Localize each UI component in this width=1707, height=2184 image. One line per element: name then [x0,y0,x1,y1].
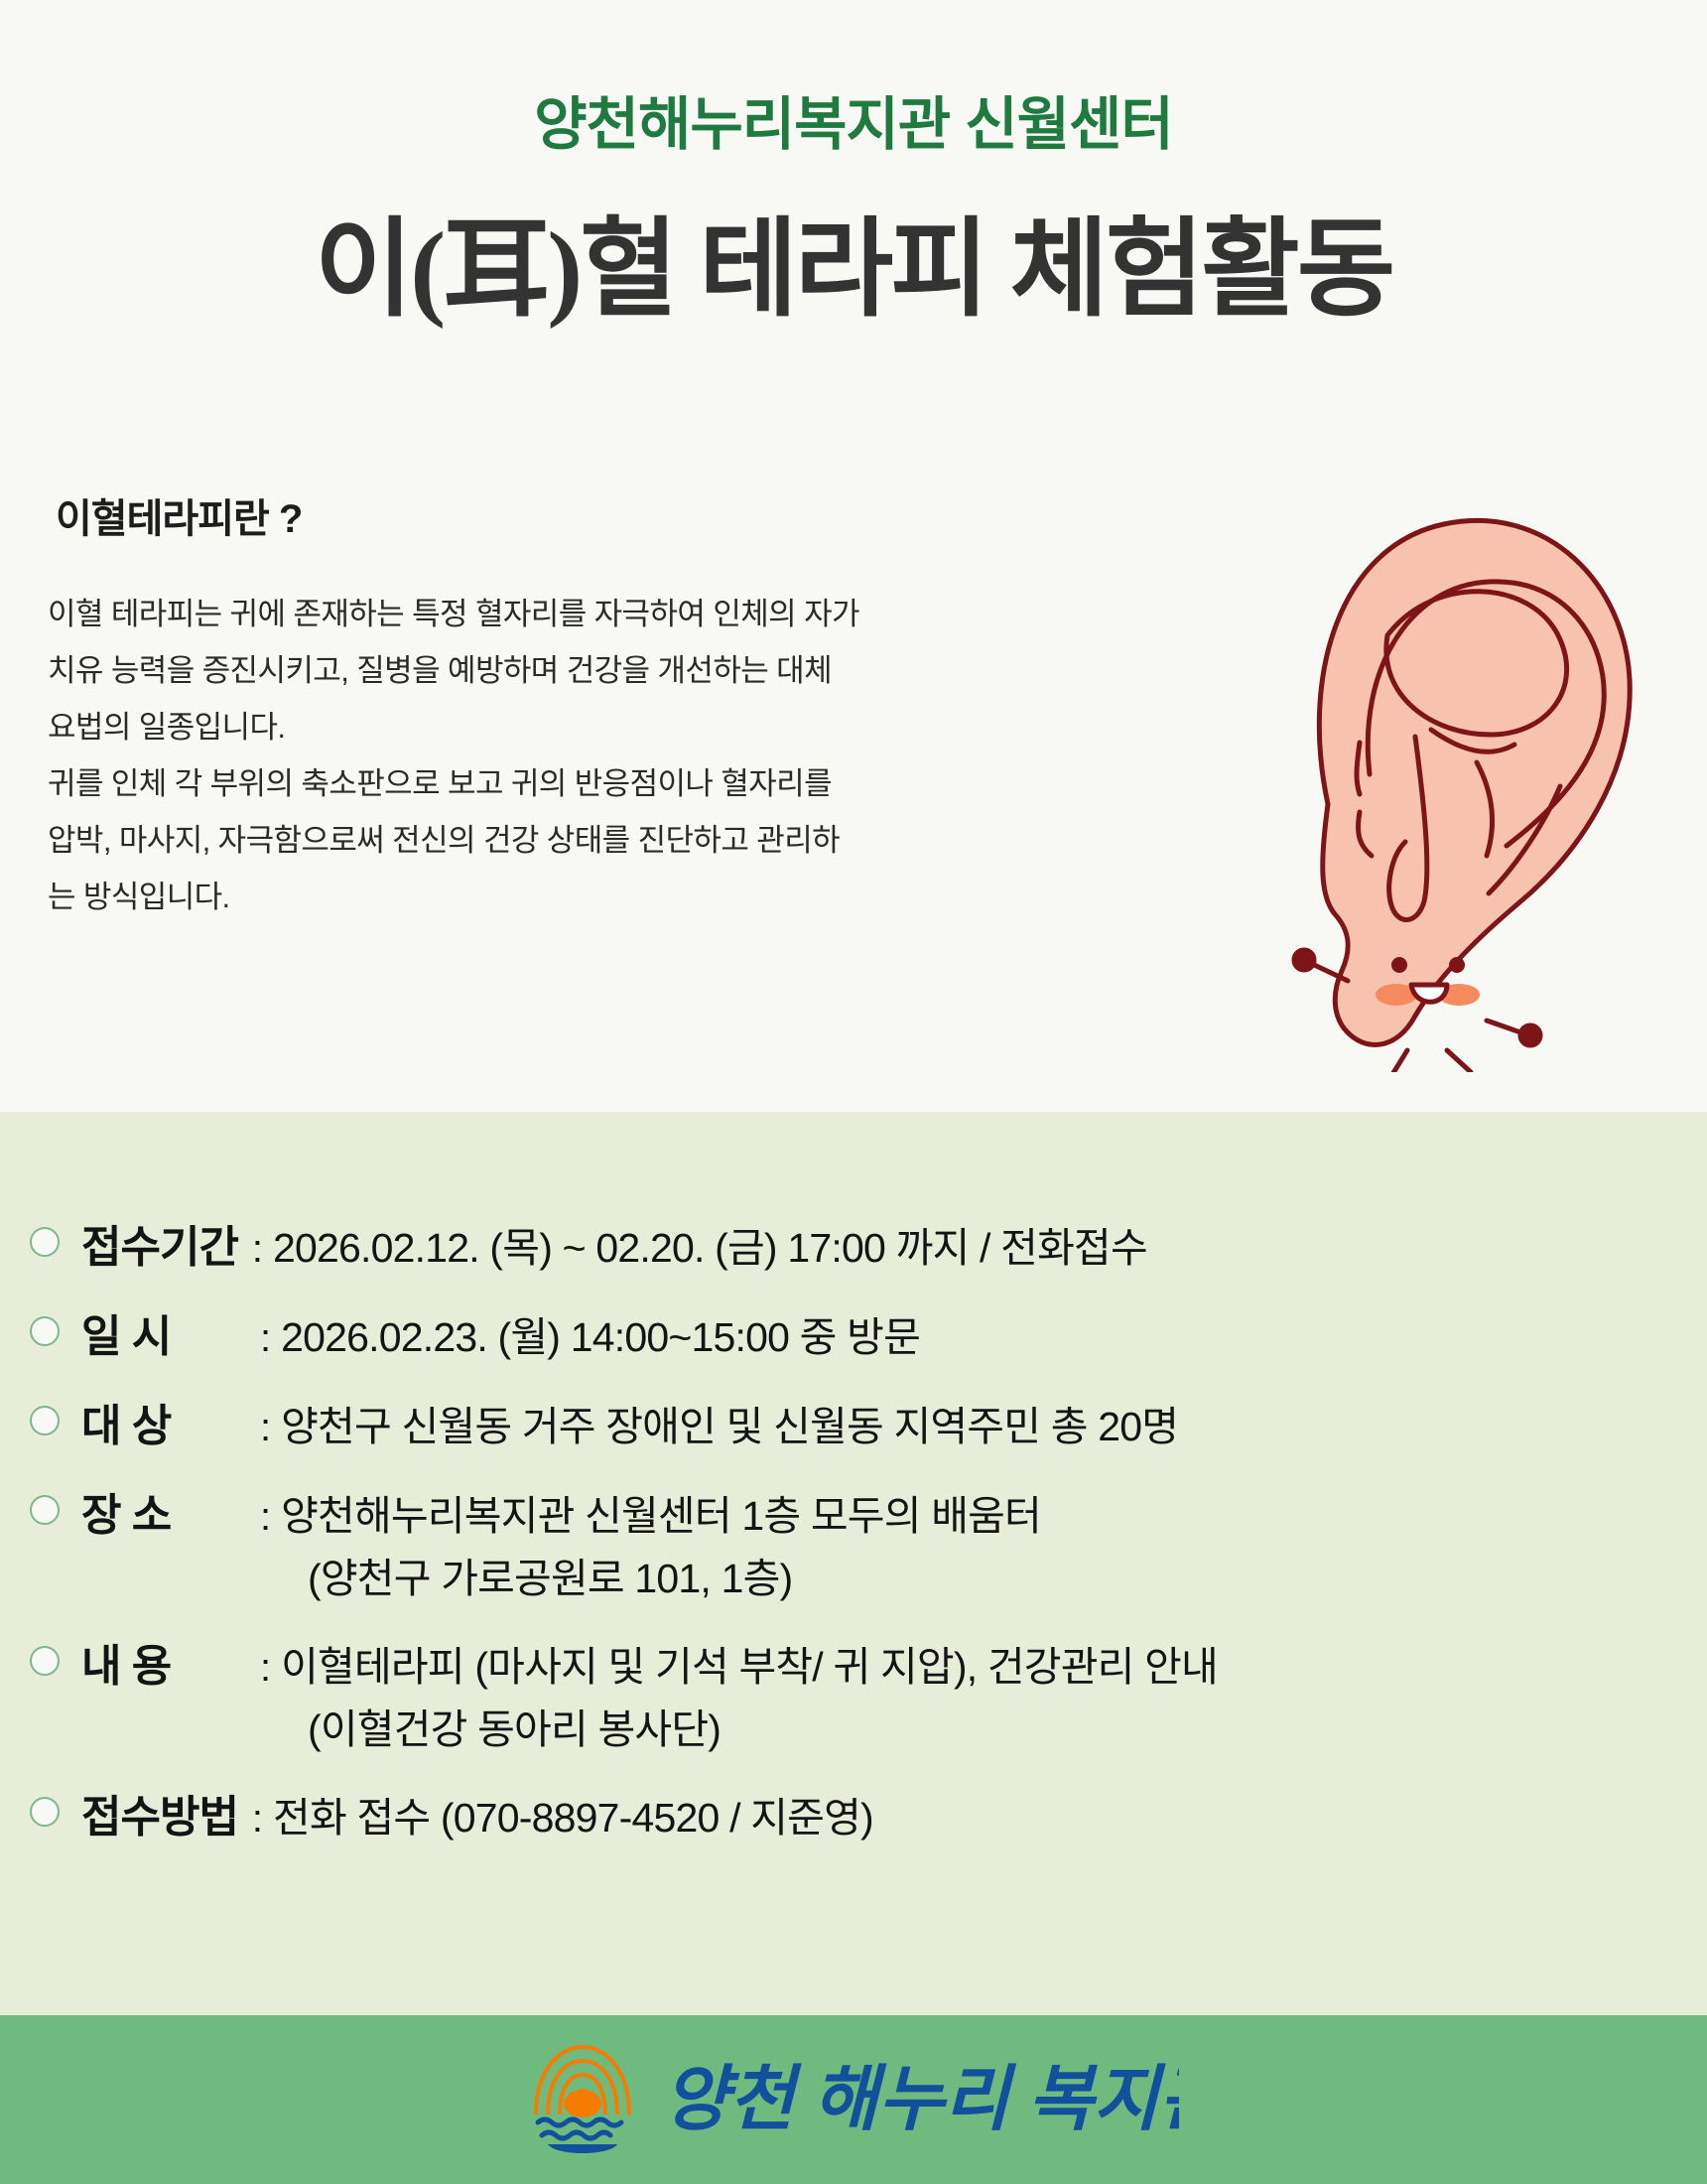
bullet-icon [30,1227,60,1257]
detail-row-datetime: 일 시 : 2026.02.23. (월) 14:00~15:00 중 방문 [30,1300,1677,1364]
intro-line: 치유 능력을 증진시키고, 질병을 예방하며 건강을 개선하는 대체 [48,642,921,699]
bullet-icon [30,1406,60,1435]
intro-line: 압박, 마사지, 자극함으로써 전신의 건강 상태를 진단하고 관리하 [48,812,921,869]
detail-row-line: 접수방법 : 전화 접수 (070-8897-4520 / 지준영) [81,1781,1677,1844]
detail-label: 대 상 [81,1390,252,1453]
footer-logo-text-icon: 양천 해누리 복지관 [663,2052,1179,2147]
detail-row-target: 대 상 : 양천구 신월동 거주 장애인 및 신월동 지역주민 총 20명 [30,1390,1677,1453]
detail-label: 접수방법 [81,1781,238,1844]
detail-value: 이혈테라피 (마사지 및 기석 부착/ 귀 지압), 건강관리 안내 [281,1633,1218,1693]
intro-line: 는 방식입니다. [48,869,921,925]
detail-row-location: 장 소 : 양천해누리복지관 신월센터 1층 모두의 배움터 (양천구 가로공원… [30,1479,1677,1604]
detail-value: 2026.02.12. (목) ~ 02.20. (금) 17:00 까지 / … [273,1214,1147,1274]
detail-row-body: 접수방법 : 전화 접수 (070-8897-4520 / 지준영) [81,1781,1677,1844]
bullet-icon [30,1797,60,1827]
intro-paragraph: 이혈 테라피는 귀에 존재하는 특정 혈자리를 자극하여 인체의 자가 치유 능… [48,586,921,925]
detail-row-line: 일 시 : 2026.02.23. (월) 14:00~15:00 중 방문 [81,1300,1677,1364]
detail-row-reception-period: 접수기간 : 2026.02.12. (목) ~ 02.20. (금) 17:0… [30,1211,1677,1275]
detail-row-how-to-apply: 접수방법 : 전화 접수 (070-8897-4520 / 지준영) [30,1781,1677,1844]
poster-root: 양천해누리복지관 신월센터 이(耳)혈 테라피 체험활동 이혈테라피란 ? 이혈… [0,0,1707,2184]
detail-label: 일 시 [81,1300,252,1364]
detail-label: 내 용 [81,1630,252,1694]
detail-subvalue: (양천구 가로공원로 101, 1층) [81,1545,1677,1604]
detail-row-body: 대 상 : 양천구 신월동 거주 장애인 및 신월동 지역주민 총 20명 [81,1390,1677,1453]
detail-colon: : [260,1406,271,1450]
detail-colon: : [252,1227,263,1272]
detail-row-body: 접수기간 : 2026.02.12. (목) ~ 02.20. (금) 17:0… [81,1211,1677,1275]
detail-colon: : [252,1797,263,1842]
bullet-icon [30,1316,60,1346]
bullet-icon [30,1646,60,1676]
detail-row-line: 내 용 : 이혈테라피 (마사지 및 기석 부착/ 귀 지압), 건강관리 안내 [81,1630,1677,1694]
mouth [1411,985,1447,1002]
detail-value: 양천구 신월동 거주 장애인 및 신월동 지역주민 총 20명 [281,1393,1178,1452]
footer-logo-wordmark: 양천 해누리 복지관 [663,2052,1179,2147]
ear-icon [1221,477,1647,1072]
detail-row-line: 접수기간 : 2026.02.12. (목) ~ 02.20. (금) 17:0… [81,1211,1677,1275]
sunrise-waves-logo-icon [528,2041,637,2158]
intro-line: 요법의 일종입니다. [48,699,921,755]
footer-logo-label: 양천 해누리 복지관 [663,2060,1179,2139]
footer-bar: 양천 해누리 복지관 [0,2015,1707,2184]
intro-section: 양천해누리복지관 신월센터 이(耳)혈 테라피 체험활동 이혈테라피란 ? 이혈… [0,0,1707,1112]
detail-row-line: 장 소 : 양천해누리복지관 신월센터 1층 모두의 배움터 [81,1479,1677,1543]
detail-value: 양천해누리복지관 신월센터 1층 모두의 배움터 [281,1482,1041,1542]
ear-character-illustration [1221,477,1647,1072]
eye-right [1449,957,1465,973]
detail-colon: : [260,1495,271,1540]
detail-row-body: 장 소 : 양천해누리복지관 신월센터 1층 모두의 배움터 (양천구 가로공원… [81,1479,1677,1604]
intro-line: 이혈 테라피는 귀에 존재하는 특정 혈자리를 자극하여 인체의 자가 [48,586,921,642]
detail-label: 장 소 [81,1479,252,1543]
detail-colon: : [260,1646,271,1691]
detail-row-content: 내 용 : 이혈테라피 (마사지 및 기석 부착/ 귀 지압), 건강관리 안내… [30,1630,1677,1755]
detail-label: 접수기간 [81,1211,238,1275]
detail-value: 전화 접수 (070-8897-4520 / 지준영) [273,1784,873,1843]
detail-row-body: 내 용 : 이혈테라피 (마사지 및 기석 부착/ 귀 지압), 건강관리 안내… [81,1630,1677,1755]
eye-left [1391,957,1407,973]
intro-block: 이혈테라피란 ? 이혈 테라피는 귀에 존재하는 특정 혈자리를 자극하여 인체… [48,486,921,925]
detail-subvalue: (이혈건강 동아리 봉사단) [81,1696,1677,1755]
intro-heading: 이혈테라피란 ? [48,486,921,544]
organization-name: 양천해누리복지관 신월센터 [0,0,1707,161]
details-list: 접수기간 : 2026.02.12. (목) ~ 02.20. (금) 17:0… [30,1211,1677,1844]
detail-row-line: 대 상 : 양천구 신월동 거주 장애인 및 신월동 지역주민 총 20명 [81,1390,1677,1453]
intro-line: 귀를 인체 각 부위의 축소판으로 보고 귀의 반응점이나 혈자리를 [48,755,921,812]
detail-colon: : [260,1316,271,1361]
detail-value: 2026.02.23. (월) 14:00~15:00 중 방문 [281,1303,920,1363]
details-section: 접수기간 : 2026.02.12. (목) ~ 02.20. (금) 17:0… [0,1112,1707,2015]
detail-row-body: 일 시 : 2026.02.23. (월) 14:00~15:00 중 방문 [81,1300,1677,1364]
bullet-icon [30,1495,60,1525]
page-title: 이(耳)혈 테라피 체험활동 [0,183,1707,338]
